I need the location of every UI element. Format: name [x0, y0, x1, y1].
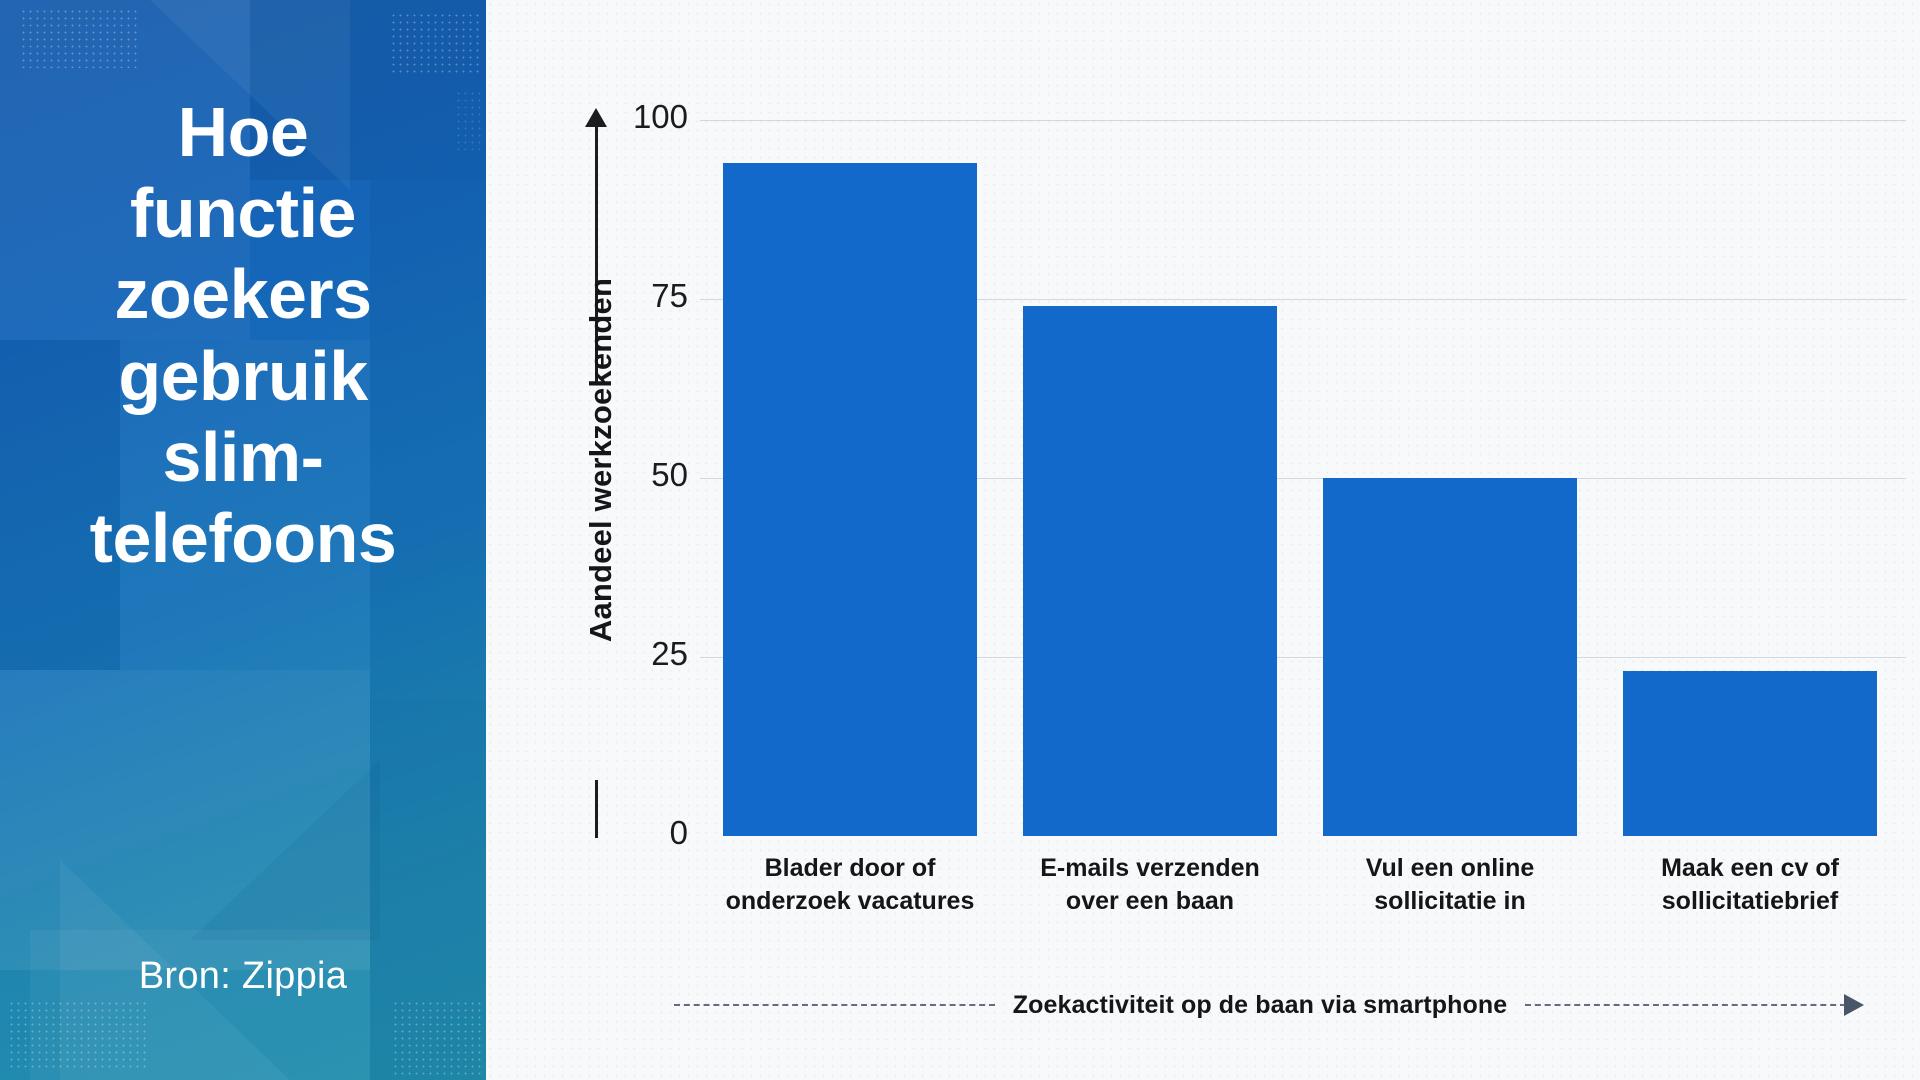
- decor-dot-grid-3: [8, 1000, 148, 1072]
- y-axis-line-lower: [595, 780, 598, 838]
- decor-dot-grid-4: [392, 1000, 484, 1076]
- bar[interactable]: [1323, 478, 1577, 836]
- panel-source-label: Bron: Zippia: [0, 955, 486, 998]
- decor-panel-8: [30, 930, 370, 1080]
- y-axis-arrow: Aandeel werkzoekenden: [576, 108, 616, 838]
- bar[interactable]: [723, 163, 977, 836]
- chart-container: 0255075100 Aandeel werkzoekenden Blader …: [486, 0, 1920, 1080]
- decor-dot-grid-1: [20, 8, 140, 68]
- bar[interactable]: [1623, 671, 1877, 836]
- decor-panel-6: [0, 670, 370, 970]
- x-axis-dash-left: [674, 1004, 995, 1006]
- x-axis-category-label: Blader door of onderzoek vacatures: [700, 852, 1000, 917]
- panel-title: Hoe functie zoekers gebruik slim- telefo…: [0, 92, 486, 579]
- x-axis-category-label: E-mails verzenden over een baan: [1000, 852, 1300, 917]
- bar[interactable]: [1023, 306, 1277, 836]
- x-axis-category-label: Vul een online sollicitatie in: [1300, 852, 1600, 917]
- bar-chart-plot: 0255075100 Aandeel werkzoekenden Blader …: [486, 0, 1920, 1080]
- decor-dot-grid-2: [390, 12, 482, 76]
- x-axis-dash-right: [1525, 1004, 1846, 1006]
- gridline: [700, 120, 1906, 121]
- x-axis-title: Zoekactiviteit op de baan via smartphone: [995, 991, 1525, 1020]
- decor-triangle-3: [190, 760, 380, 940]
- x-axis-category-label: Maak een cv of sollicitatiebrief: [1600, 852, 1900, 917]
- x-axis-arrowhead-icon: [1844, 994, 1864, 1016]
- y-axis-title: Aandeel werkzoekenden: [583, 250, 623, 670]
- x-axis-title-row: Zoekactiviteit op de baan via smartphone: [674, 985, 1864, 1025]
- decor-panel-7: [370, 700, 486, 1080]
- title-panel: Hoe functie zoekers gebruik slim- telefo…: [0, 0, 486, 1080]
